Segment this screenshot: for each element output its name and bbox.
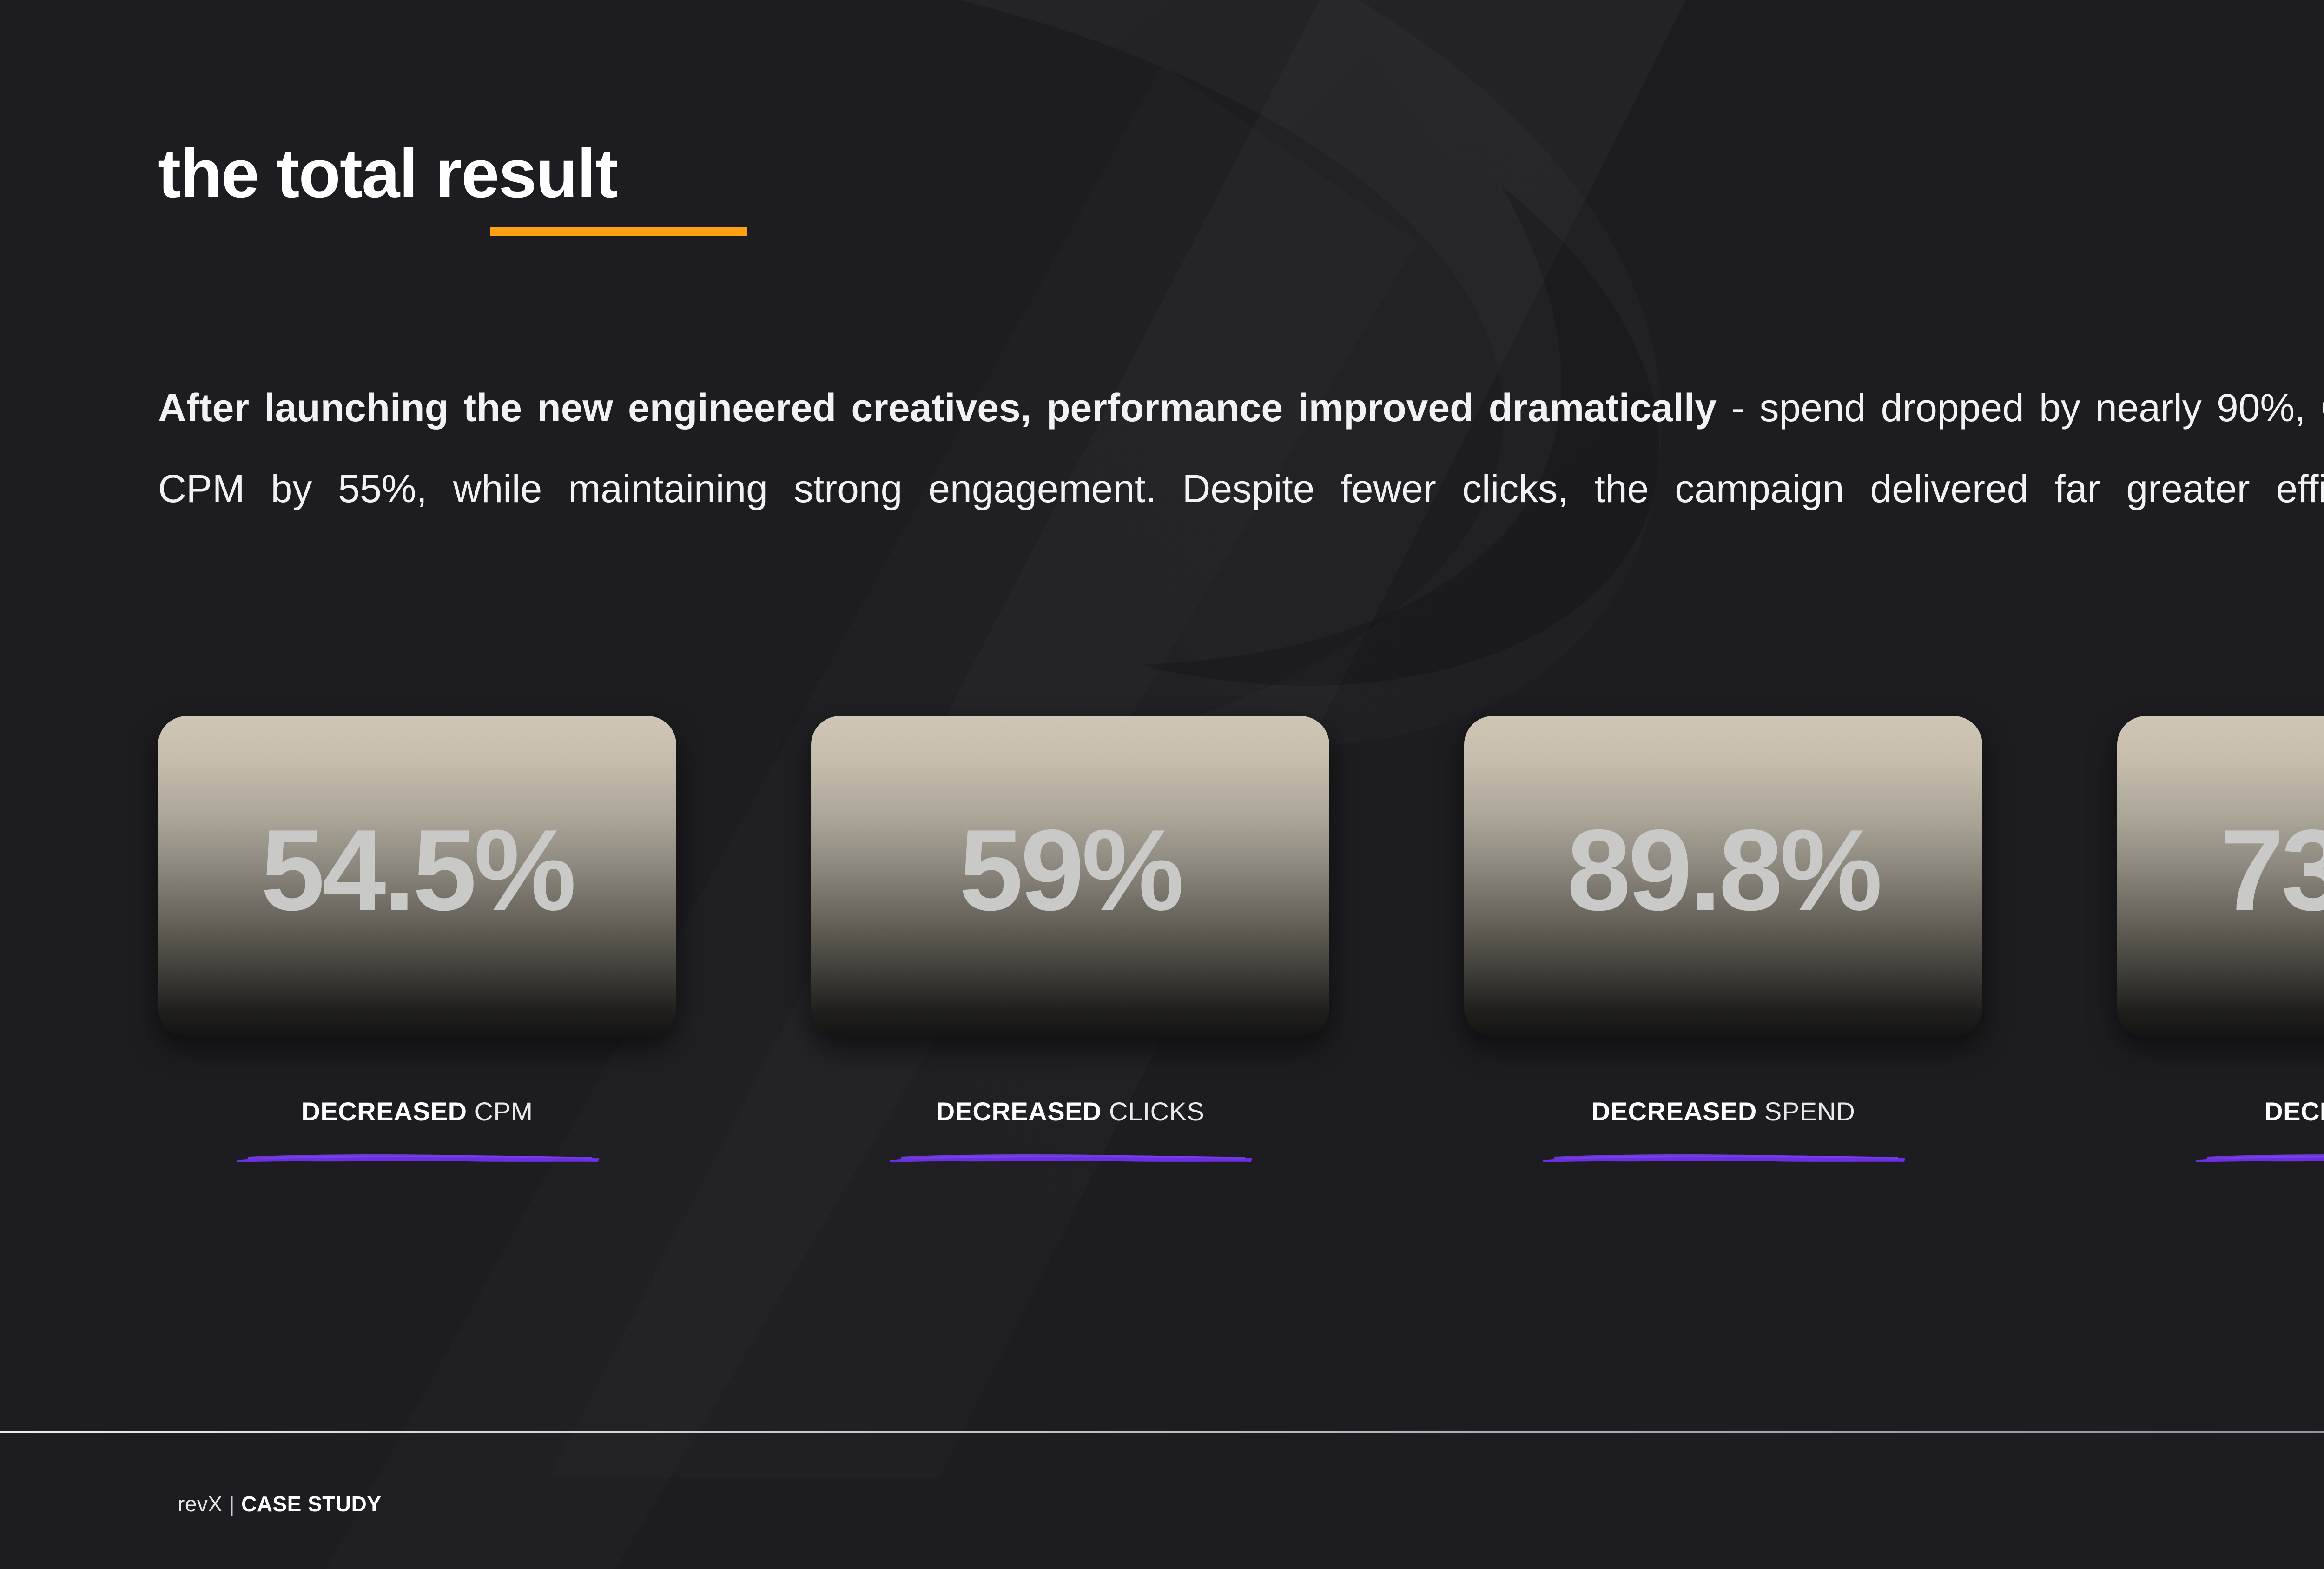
- stat-metric: CLICKS: [1109, 1097, 1204, 1126]
- stat-underline-brush: [1540, 1152, 1907, 1163]
- stat-card: 89.8%: [1464, 716, 1982, 1037]
- stat-value: 73.9%: [2220, 812, 2324, 927]
- summary-lead: After launching the new engineered creat…: [158, 386, 1717, 430]
- page-title: the total result: [158, 139, 617, 208]
- footer-brand-line: revX|CASE STUDY: [178, 1491, 382, 1516]
- stat-value: 59%: [959, 812, 1181, 927]
- stat-keyword: DECREASED: [301, 1097, 467, 1126]
- title-underline-accent: [490, 227, 747, 236]
- summary-paragraph: After launching the new engineered creat…: [158, 367, 2324, 610]
- stat-card: 73.9%: [2117, 716, 2324, 1037]
- page-title-block: the total result: [158, 139, 617, 208]
- stat-underline-brush: [887, 1152, 1254, 1163]
- stat-underline-brush: [2193, 1152, 2324, 1163]
- footer-divider: [0, 1431, 2324, 1433]
- stat-card: 54.5%: [158, 716, 676, 1037]
- stat-caption: DECREASED CPM: [301, 1096, 533, 1126]
- stat-caption: DECREASED SPEND: [1591, 1096, 1855, 1126]
- stat-keyword: DECREASED: [936, 1097, 1102, 1126]
- stat-caption: DECREASED CPL: [2264, 1096, 2324, 1126]
- stat-card: 59%: [811, 716, 1329, 1037]
- stat-block-cpl: 73.9% DECREASED CPL: [2117, 716, 2324, 1163]
- stat-underline-brush: [234, 1152, 601, 1163]
- stat-block-clicks: 59% DECREASED CLICKS: [811, 716, 1329, 1163]
- stat-value: 89.8%: [1567, 812, 1880, 927]
- stat-keyword: DECREASED: [1591, 1097, 1757, 1126]
- stat-block-cpm: 54.5% DECREASED CPM: [158, 716, 676, 1163]
- stat-block-spend: 89.8% DECREASED SPEND: [1464, 716, 1982, 1163]
- stats-row: 54.5% DECREASED CPM 59% DECREASED CLICKS: [158, 716, 2324, 1163]
- stat-metric: SPEND: [1764, 1097, 1855, 1126]
- stat-value: 54.5%: [261, 812, 574, 927]
- footer-brand: revX: [178, 1492, 223, 1516]
- footer-separator: |: [223, 1492, 241, 1516]
- footer-doc-type: CASE STUDY: [241, 1492, 381, 1516]
- stat-keyword: DECREASED: [2264, 1097, 2324, 1126]
- stat-metric: CPM: [475, 1097, 533, 1126]
- stat-caption: DECREASED CLICKS: [936, 1096, 1204, 1126]
- slide-the-total-result: the total result: [0, 0, 2324, 1569]
